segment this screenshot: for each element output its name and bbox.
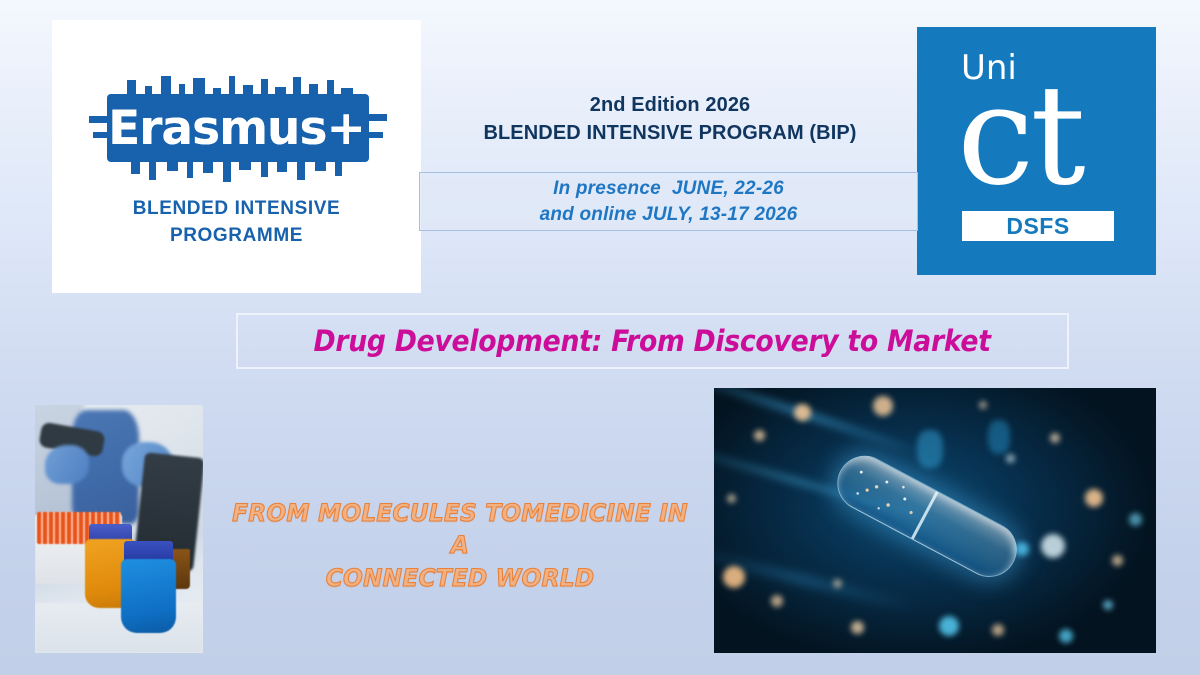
bokeh-dot [723,566,745,588]
bokeh-dot [939,616,959,636]
edition-heading: 2nd Edition 2026 BLENDED INTENSIVE PROGR… [420,92,920,147]
unict-dsfs-band: DSFS [962,211,1114,241]
glowing-capsule-photo [714,388,1156,653]
main-title-box: Drug Development: From Discovery to Mark… [236,313,1069,369]
erasmus-subtitle-line-1: BLENDED INTENSIVE [133,196,341,222]
erasmus-subtitle-line-2: PROGRAMME [133,223,341,249]
lab-flasks-photo [35,405,203,653]
bokeh-dot [1103,600,1113,610]
unict-dsfs-logo: Uni ct DSFS [917,27,1156,275]
erasmus-plus-logo-icon: Erasmus+ [87,76,387,180]
bokeh-dot [1041,534,1065,558]
bokeh-dot [1050,433,1060,443]
tagline-line-1: FROM MOLECULES TOMEDICINE IN A [222,497,697,562]
lab-bench-shape [35,603,203,653]
bokeh-dot [771,595,783,607]
dates-line-online: and online JULY, 13-17 2026 [540,202,798,228]
bokeh-dot [1085,489,1103,507]
bokeh-dot [992,624,1004,636]
bokeh-dot [1059,629,1073,643]
tagline: FROM MOLECULES TOMEDICINE IN A CONNECTED… [222,497,697,594]
dates-line-in-presence: In presence JUNE, 22-26 [553,176,784,202]
erasmus-plus-logo-panel: Erasmus+ BLENDED INTENSIVE PROGRAMME [52,20,421,293]
bokeh-dot [727,494,736,503]
bokeh-dot [917,430,943,468]
presentation-slide: Erasmus+ BLENDED INTENSIVE PROGRAMME Uni… [0,0,1200,675]
program-line: BLENDED INTENSIVE PROGRAM (BIP) [420,120,920,148]
edition-line: 2nd Edition 2026 [420,92,920,120]
bokeh-dot [979,401,987,409]
bokeh-dot [873,396,893,416]
bokeh-dot [754,430,765,441]
capsule-light-beam [714,388,930,459]
bokeh-dot [1112,555,1123,566]
lab-glove-left-shape [45,445,89,485]
bokeh-dot [851,621,864,634]
capsule-granules [839,456,933,532]
tagline-line-2: CONNECTED WORLD [222,562,697,594]
bokeh-dot [1006,454,1015,463]
erasmus-logo-subtitle: BLENDED INTENSIVE PROGRAMME [133,196,341,248]
bokeh-dot [1129,513,1142,526]
erasmus-plus-wordmark: Erasmus+ [87,76,387,180]
dates-box: In presence JUNE, 22-26 and online JULY,… [419,172,918,231]
main-title: Drug Development: From Discovery to Mark… [314,324,991,358]
unict-dsfs-label: DSFS [1006,213,1069,240]
unict-ct-monogram: ct [957,67,1137,205]
bokeh-dot [988,420,1010,454]
bokeh-dot [794,404,811,421]
lab-blue-flask-shape [121,559,176,633]
